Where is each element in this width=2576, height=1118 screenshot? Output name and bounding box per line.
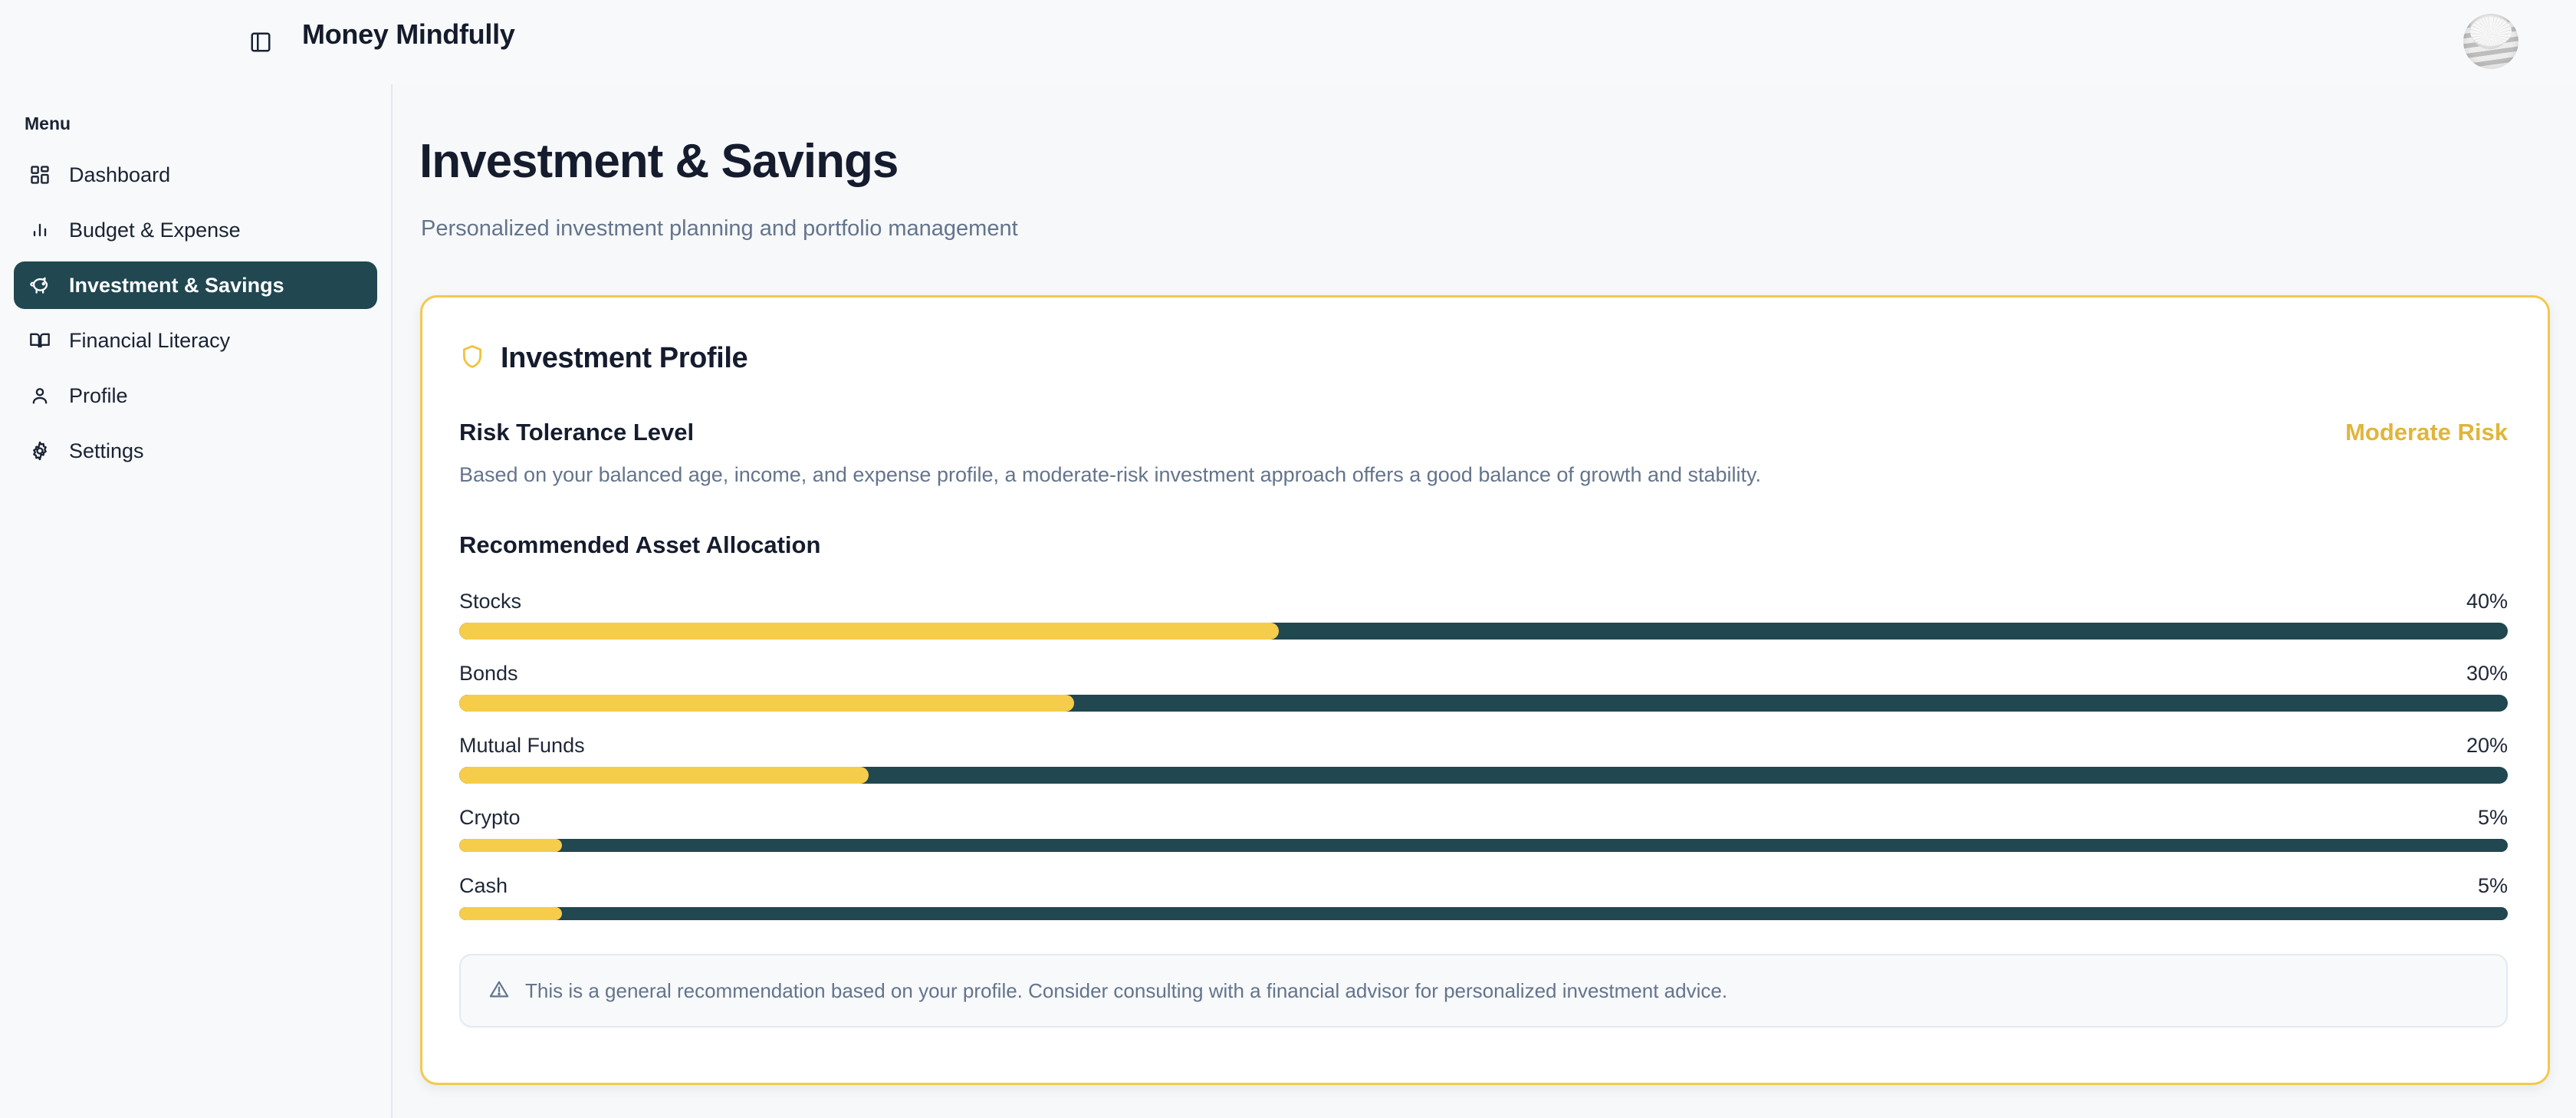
allocation-bar-fill [459,695,1074,712]
sidebar-item-investment-savings[interactable]: Investment & Savings [14,261,377,309]
panel-left-icon [249,31,272,54]
allocation-bar-track [459,839,2508,852]
sidebar-item-dashboard[interactable]: Dashboard [14,151,377,199]
risk-tolerance-heading: Risk Tolerance Level [459,419,694,446]
sidebar: Menu Dashboard Budget & Expense [0,84,393,1118]
sidebar-section-label: Menu [25,113,391,134]
allocation-row: Mutual Funds 20% [459,734,2508,784]
sidebar-item-profile[interactable]: Profile [14,372,377,419]
allocation-row: Cash 5% [459,874,2508,920]
user-icon [28,383,52,408]
layout-grid-icon [28,163,52,187]
page-title: Investment & Savings [419,134,898,189]
allocation-row: Stocks 40% [459,590,2508,640]
investment-profile-card: Investment Profile Risk Tolerance Level … [420,295,2550,1085]
disclaimer-text: This is a general recommendation based o… [525,979,1727,1003]
asset-percent: 40% [2466,590,2508,613]
allocation-bar-fill [459,907,562,920]
asset-label: Bonds [459,662,518,686]
alert-triangle-icon [488,978,510,1004]
top-bar: Money Mindfully [0,0,2576,84]
book-open-icon [28,328,52,353]
allocation-bar-track [459,623,2508,640]
allocation-bar-track [459,695,2508,712]
risk-tolerance-description: Based on your balanced age, income, and … [459,463,2548,487]
allocation-bar-fill [459,839,562,852]
allocation-bar-track [459,907,2508,920]
piggy-bank-icon [28,273,52,298]
gear-icon [28,439,52,463]
sidebar-toggle-button[interactable] [244,25,278,59]
sidebar-item-budget-expense[interactable]: Budget & Expense [14,206,377,254]
sidebar-item-financial-literacy[interactable]: Financial Literacy [14,317,377,364]
asset-label: Crypto [459,806,521,830]
asset-percent: 5% [2478,874,2508,898]
allocation-bar-track [459,767,2508,784]
app-title: Money Mindfully [302,18,515,51]
main-content: Investment & Savings Personalized invest… [394,84,2576,1118]
allocation-heading: Recommended Asset Allocation [459,531,2548,559]
asset-percent: 20% [2466,734,2508,758]
asset-label: Stocks [459,590,521,613]
bar-chart-icon [28,218,52,242]
avatar[interactable] [2463,14,2518,69]
sidebar-item-label: Profile [69,384,128,408]
asset-label: Mutual Funds [459,734,585,758]
sidebar-item-label: Settings [69,439,144,463]
asset-percent: 5% [2478,806,2508,830]
risk-level-badge: Moderate Risk [2345,419,2508,446]
page-subtitle: Personalized investment planning and por… [421,216,1018,242]
risk-tolerance-row: Risk Tolerance Level Moderate Risk [459,419,2508,446]
asset-percent: 30% [2466,662,2508,686]
disclaimer-notice: This is a general recommendation based o… [459,954,2508,1028]
shield-icon [459,344,485,373]
sidebar-item-label: Budget & Expense [69,219,241,242]
allocation-bar-fill [459,767,869,784]
sidebar-item-label: Investment & Savings [69,274,284,298]
card-header: Investment Profile [459,342,2548,375]
asset-label: Cash [459,874,508,898]
card-title: Investment Profile [501,342,747,375]
allocation-row: Crypto 5% [459,806,2508,852]
asset-allocation-chart: Stocks 40% Bonds 30% Mutual Funds [459,590,2508,920]
allocation-bar-fill [459,623,1279,640]
allocation-row: Bonds 30% [459,662,2508,712]
sidebar-item-label: Dashboard [69,163,170,187]
sidebar-item-label: Financial Literacy [69,329,230,353]
sidebar-item-settings[interactable]: Settings [14,427,377,475]
